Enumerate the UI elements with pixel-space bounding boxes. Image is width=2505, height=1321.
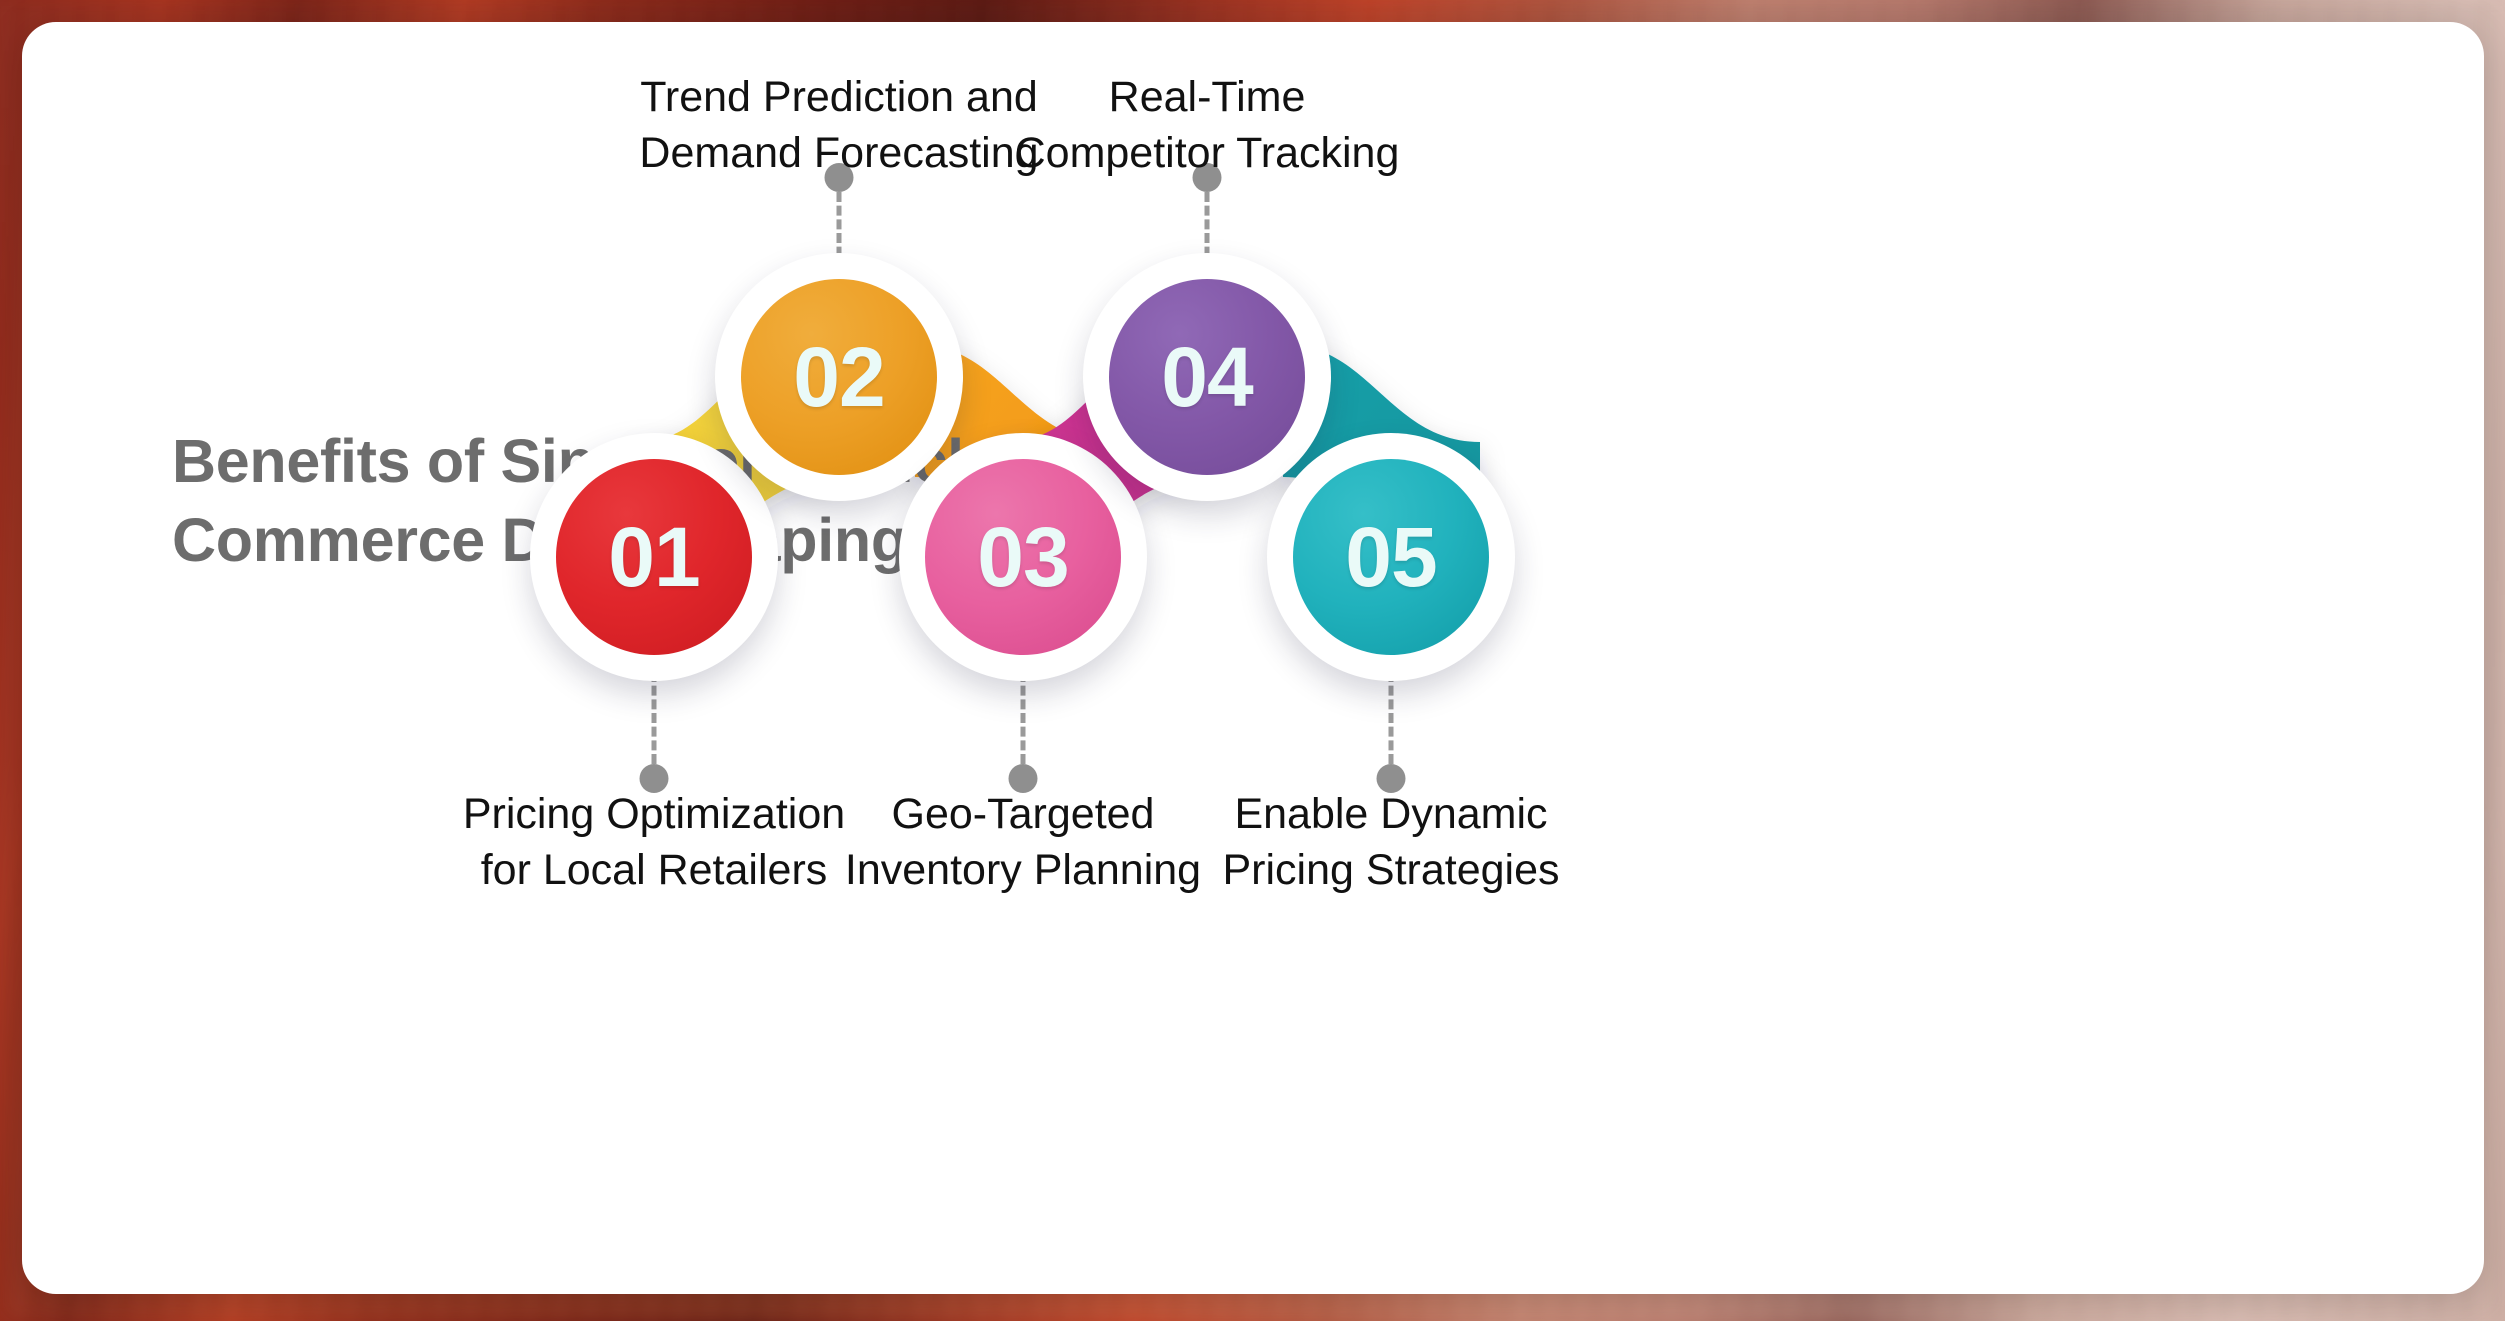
leader-dash-03 (1021, 672, 1026, 764)
step-number-04: 04 (1109, 279, 1305, 475)
leader-line-05 (1267, 672, 1515, 792)
leader-line-03 (899, 672, 1147, 792)
step-number-02: 02 (741, 279, 937, 475)
step-label-05-line1: Enable Dynamic (1167, 787, 1615, 843)
step-number-01: 01 (556, 459, 752, 655)
leader-line-01 (530, 672, 778, 792)
step-node-02[interactable]: 02 (715, 253, 963, 501)
step-node-01[interactable]: 01 (530, 433, 778, 681)
infographic-card: Benefits of Singapore Quick Commerce Dat… (22, 22, 2484, 1294)
step-number-03: 03 (925, 459, 1121, 655)
step-label-05-line2: Pricing Strategies (1167, 843, 1615, 899)
step-node-04[interactable]: 04 (1083, 253, 1331, 501)
step-label-04-line2: Competitor Tracking (983, 126, 1431, 182)
step-number-05: 05 (1293, 459, 1489, 655)
step-node-05[interactable]: 05 (1267, 433, 1515, 681)
step-label-04-line1: Real-Time (983, 70, 1431, 126)
leader-dash-01 (652, 672, 657, 764)
step-label-05: Enable Dynamic Pricing Strategies (1167, 787, 1615, 899)
step-node-03[interactable]: 03 (899, 433, 1147, 681)
step-label-04: Real-Time Competitor Tracking (983, 70, 1431, 182)
leader-dash-05 (1389, 672, 1394, 764)
